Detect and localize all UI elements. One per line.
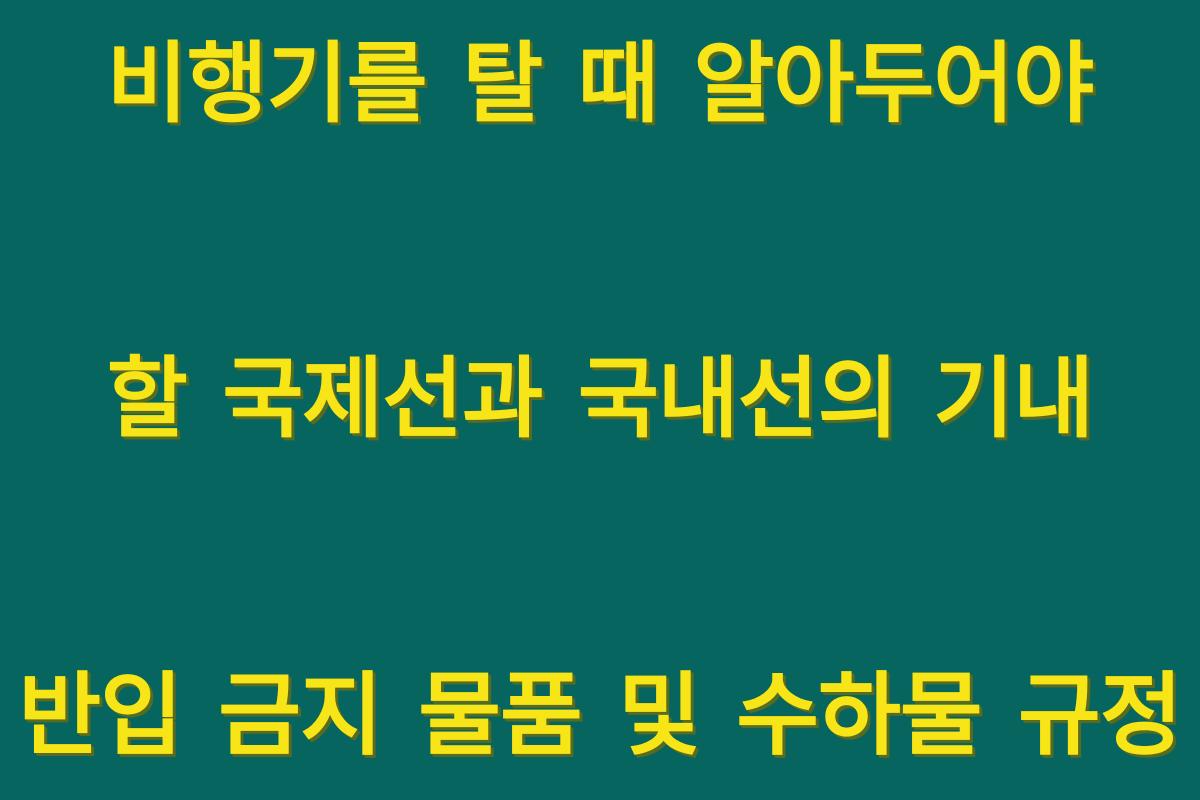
- headline-text-block: 비행기를 탈 때 알아두어야 할 국제선과 국내선의 기내 반입 금지 물품 및…: [0, 0, 1200, 800]
- headline-line-3: 반입 금지 물품 및 수하물 규정: [14, 662, 1186, 770]
- headline-line-1: 비행기를 탈 때 알아두어야: [14, 31, 1186, 136]
- headline-line-2: 할 국제선과 국내선의 기내: [14, 346, 1186, 451]
- thumbnail-banner: 비행기를 탈 때 알아두어야 할 국제선과 국내선의 기내 반입 금지 물품 및…: [0, 0, 1200, 800]
